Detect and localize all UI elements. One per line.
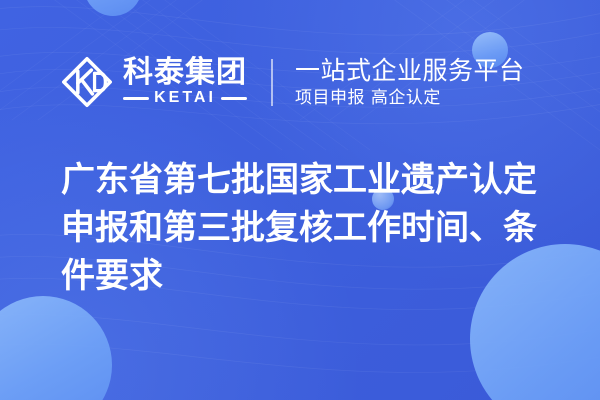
header-divider <box>271 59 273 106</box>
brand-tagline: 一站式企业服务平台 项目申报 高企认定 <box>295 57 525 108</box>
wordmark-rule-right <box>221 97 247 100</box>
decor-circle-bottom-left <box>0 296 112 400</box>
brand-name-en-row: KETAI <box>123 90 247 106</box>
brand-wordmark: 科泰集团 KETAI <box>123 58 247 106</box>
brand-name-en: KETAI <box>154 90 216 106</box>
banner-header: 科泰集团 KETAI 一站式企业服务平台 项目申报 高企认定 <box>0 46 600 118</box>
decor-circle-top-left <box>84 0 142 16</box>
ketai-diamond-kd-monogram-icon <box>60 55 114 109</box>
tagline-secondary: 项目申报 高企认定 <box>295 89 525 108</box>
promo-banner: 科泰集团 KETAI 一站式企业服务平台 项目申报 高企认定 广东省第七批国家工… <box>0 0 600 400</box>
page-title: 广东省第七批国家工业遗产认定申报和第三批复核工作时间、条件要求 <box>61 156 557 300</box>
brand-name-cn: 科泰集团 <box>123 58 247 88</box>
tagline-primary: 一站式企业服务平台 <box>295 57 525 84</box>
wordmark-rule-left <box>123 97 149 100</box>
brand-logo[interactable]: 科泰集团 KETAI <box>60 55 247 109</box>
